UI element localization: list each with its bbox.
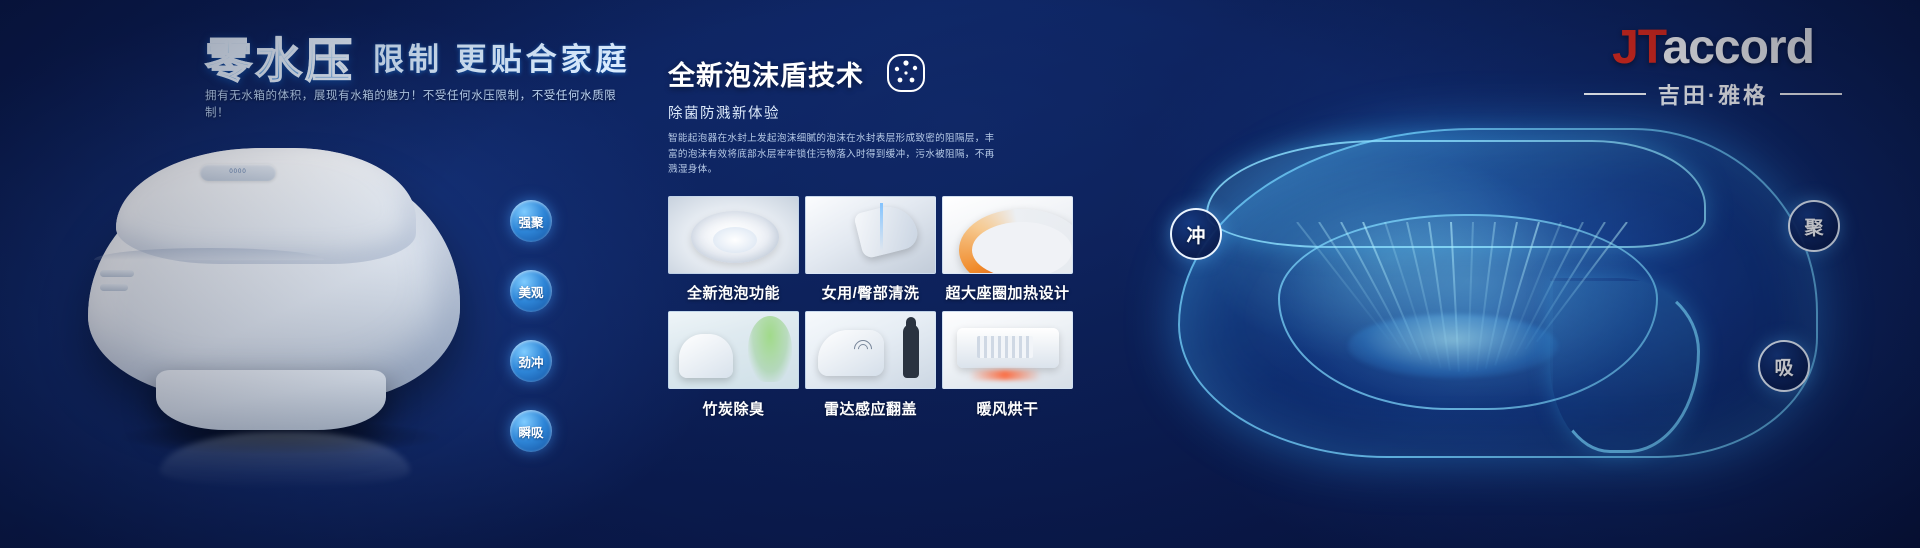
toilet-side-button-2 bbox=[100, 284, 128, 291]
radar-wave-icon bbox=[858, 340, 884, 366]
center-title: 全新泡沫盾技术 bbox=[668, 54, 864, 93]
left-section: 零水压 限制 更贴合家庭 拥有无水箱的体积，展现有水箱的魅力！不受任何水压限制，… bbox=[0, 0, 640, 548]
badge-ju[interactable]: 聚 bbox=[1788, 200, 1840, 252]
feature-tile-row-2: 竹炭除臭 雷达感应翻盖 暖风烘干 bbox=[668, 311, 1078, 419]
feature-tile-wash[interactable]: 女用/臀部清洗 bbox=[805, 196, 936, 303]
badge-shunxi[interactable]: 瞬吸 bbox=[510, 410, 552, 452]
feature-tile-foam[interactable]: 全新泡泡功能 bbox=[668, 196, 799, 303]
logo-jt: JT bbox=[1612, 21, 1662, 74]
toilet-side-button-1 bbox=[100, 270, 134, 277]
feature-tile-caption: 暖风烘干 bbox=[942, 398, 1073, 419]
feature-tile-caption: 超大座圈加热设计 bbox=[942, 282, 1073, 303]
badge-label: 强聚 bbox=[518, 212, 543, 231]
feature-tile-image bbox=[805, 196, 936, 274]
logo-accord: accord bbox=[1663, 21, 1814, 74]
headline-keyword: 零水压 bbox=[205, 37, 355, 84]
feature-tile-row-1: 全新泡泡功能 女用/臀部清洗 超大座圈加热设计 bbox=[668, 196, 1078, 303]
feature-tile-image bbox=[668, 196, 799, 274]
badge-label: 聚 bbox=[1804, 213, 1823, 240]
left-subline: 拥有无水箱的体积，展现有水箱的魅力！不受任何水压限制，不受任何水质限制！ bbox=[205, 88, 625, 123]
feature-tile-image bbox=[942, 311, 1073, 389]
toilet-panel-label: 0000 bbox=[200, 164, 276, 181]
badge-label: 劲冲 bbox=[518, 352, 543, 371]
badge-label: 吸 bbox=[1774, 353, 1793, 380]
center-subtitle: 除菌防溅新体验 bbox=[668, 102, 780, 123]
logo-rule-right bbox=[1780, 93, 1842, 95]
foam-bubble-icon bbox=[884, 52, 928, 94]
logo-chinese-name: 吉田·雅格 bbox=[1658, 78, 1768, 110]
toilet-base bbox=[156, 370, 386, 430]
badge-qiangju[interactable]: 强聚 bbox=[510, 200, 552, 242]
badge-jingchong[interactable]: 劲冲 bbox=[510, 340, 552, 382]
feature-tile-caption: 竹炭除臭 bbox=[668, 398, 799, 419]
feature-tile-caption: 全新泡泡功能 bbox=[668, 282, 799, 303]
cutaway-water-seal bbox=[1348, 314, 1558, 378]
feature-tile-radar-lid[interactable]: 雷达感应翻盖 bbox=[805, 311, 936, 419]
badge-chong[interactable]: 冲 bbox=[1170, 208, 1222, 260]
logo-divider: 吉田·雅格 bbox=[1548, 78, 1878, 110]
badge-label: 冲 bbox=[1186, 221, 1205, 248]
xray-cutaway-diagram: 冲 聚 吸 bbox=[1158, 118, 1858, 518]
right-section: JTaccord 吉田·雅格 冲 聚 吸 bbox=[1130, 0, 1920, 548]
feature-tile-caption: 女用/臀部清洗 bbox=[805, 282, 936, 303]
feature-tile-image bbox=[942, 196, 1073, 274]
feature-tile-warm-dry[interactable]: 暖风烘干 bbox=[942, 311, 1073, 419]
headline-rest: 限制 更贴合家庭 bbox=[373, 34, 631, 84]
logo-rule-left bbox=[1584, 93, 1646, 95]
feature-tile-image bbox=[805, 311, 936, 389]
badge-xi[interactable]: 吸 bbox=[1758, 340, 1810, 392]
logo-wordmark: JTaccord bbox=[1548, 24, 1878, 72]
feature-badge-list: 强聚 美观 劲冲 瞬吸 bbox=[510, 200, 552, 452]
feature-tile-caption: 雷达感应翻盖 bbox=[805, 398, 936, 419]
badge-label: 瞬吸 bbox=[518, 422, 543, 441]
badge-meiguan[interactable]: 美观 bbox=[510, 270, 552, 312]
center-section: 全新泡沫盾技术 除菌防溅新体验 智能起泡器在水封上发起泡沫细腻的泡沫在水封表层形… bbox=[660, 0, 1130, 548]
center-body-text: 智能起泡器在水封上发起泡沫细腻的泡沫在水封表层形成致密的阻隔层，丰富的泡沫有效将… bbox=[668, 131, 998, 178]
feature-tile-image bbox=[668, 311, 799, 389]
headline: 零水压 限制 更贴合家庭 bbox=[205, 34, 631, 84]
toilet-control-panel: 0000 bbox=[200, 164, 276, 181]
feature-tile-deodorize[interactable]: 竹炭除臭 bbox=[668, 311, 799, 419]
badge-label: 美观 bbox=[518, 282, 543, 301]
product-photo-toilet: 0000 bbox=[60, 120, 490, 450]
center-heading-row: 全新泡沫盾技术 bbox=[668, 52, 928, 94]
dryer-vent-icon bbox=[977, 336, 1033, 358]
promo-banner: 零水压 限制 更贴合家庭 拥有无水箱的体积，展现有水箱的魅力！不受任何水压限制，… bbox=[0, 0, 1920, 548]
feature-tile-seat-heating[interactable]: 超大座圈加热设计 bbox=[942, 196, 1073, 303]
feature-tile-grid: 全新泡泡功能 女用/臀部清洗 超大座圈加热设计 竹炭除臭 bbox=[668, 196, 1078, 427]
brand-logo: JTaccord 吉田·雅格 bbox=[1548, 24, 1878, 110]
